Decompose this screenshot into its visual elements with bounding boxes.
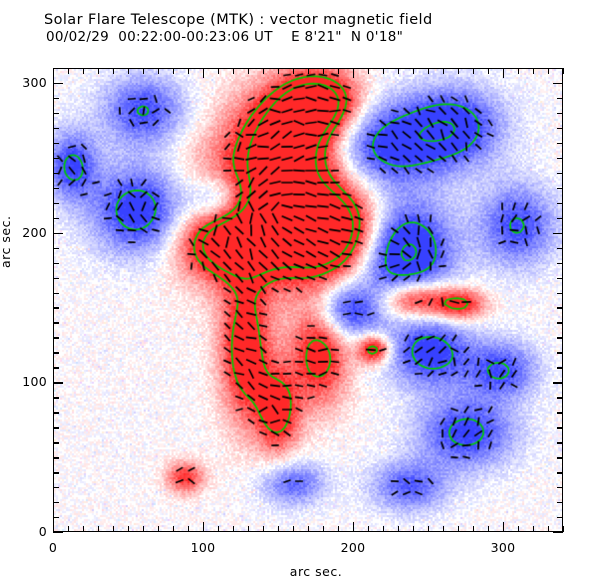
- axis-tick: [293, 526, 294, 532]
- axis-tick: [323, 526, 324, 532]
- axis-tick: [188, 526, 189, 532]
- axis-tick: [553, 233, 563, 234]
- y-tick-label: 0: [5, 524, 47, 539]
- axis-tick: [278, 68, 279, 74]
- axis-tick: [557, 263, 563, 264]
- x-axis-label: arc sec.: [0, 564, 612, 579]
- axis-tick: [53, 293, 59, 294]
- axis-tick: [53, 113, 59, 114]
- axis-tick: [128, 526, 129, 532]
- axis-tick: [53, 382, 63, 383]
- axis-tick: [173, 68, 174, 74]
- axis-tick: [557, 442, 563, 443]
- axis-tick: [143, 68, 144, 74]
- axis-tick: [53, 337, 59, 338]
- axis-tick: [98, 526, 99, 532]
- axis-tick: [143, 526, 144, 532]
- axis-tick: [473, 68, 474, 74]
- axis-tick: [53, 427, 59, 428]
- axis-tick: [518, 526, 519, 532]
- axis-tick: [53, 218, 59, 219]
- axis-tick: [383, 526, 384, 532]
- axis-tick: [548, 68, 549, 74]
- axis-tick: [443, 68, 444, 74]
- axis-tick: [518, 68, 519, 74]
- axis-tick: [563, 68, 564, 74]
- axis-tick: [553, 532, 563, 533]
- axis-tick: [53, 397, 59, 398]
- axis-tick: [53, 83, 63, 84]
- magnetogram-canvas: [54, 69, 562, 531]
- x-tick-label: 200: [330, 540, 376, 555]
- axis-tick: [473, 526, 474, 532]
- axis-tick: [353, 522, 354, 532]
- axis-tick: [53, 68, 59, 69]
- axis-tick: [557, 397, 563, 398]
- axis-tick: [218, 68, 219, 74]
- axis-tick: [557, 293, 563, 294]
- axis-tick: [557, 517, 563, 518]
- axis-tick: [557, 128, 563, 129]
- axis-tick: [398, 68, 399, 74]
- axis-tick: [553, 83, 563, 84]
- axis-tick: [53, 248, 59, 249]
- axis-tick: [308, 526, 309, 532]
- axis-tick: [488, 68, 489, 74]
- y-axis-label: arc sec.: [0, 216, 13, 268]
- axis-tick: [53, 502, 59, 503]
- axis-tick: [413, 526, 414, 532]
- axis-tick: [503, 68, 504, 78]
- figure-title: Solar Flare Telescope (MTK) : vector mag…: [44, 12, 584, 45]
- axis-tick: [383, 68, 384, 74]
- axis-tick: [338, 68, 339, 74]
- axis-tick: [233, 68, 234, 74]
- axis-tick: [53, 472, 59, 473]
- axis-tick: [458, 68, 459, 74]
- axis-tick: [323, 68, 324, 74]
- axis-tick: [293, 68, 294, 74]
- axis-tick: [263, 526, 264, 532]
- axis-tick: [98, 68, 99, 74]
- axis-tick: [248, 526, 249, 532]
- axis-tick: [353, 68, 354, 78]
- axis-tick: [533, 526, 534, 532]
- axis-tick: [53, 68, 54, 78]
- axis-tick: [398, 526, 399, 532]
- axis-tick: [53, 278, 59, 279]
- axis-tick: [278, 526, 279, 532]
- axis-tick: [68, 68, 69, 74]
- axis-tick: [557, 457, 563, 458]
- axis-tick: [557, 427, 563, 428]
- axis-tick: [557, 502, 563, 503]
- axis-tick: [553, 382, 563, 383]
- axis-tick: [533, 68, 534, 74]
- axis-tick: [203, 522, 204, 532]
- axis-tick: [263, 68, 264, 74]
- axis-tick: [53, 322, 59, 323]
- axis-tick: [308, 68, 309, 74]
- axis-tick: [557, 68, 563, 69]
- axis-tick: [53, 128, 59, 129]
- axis-tick: [53, 158, 59, 159]
- axis-tick: [53, 173, 59, 174]
- axis-tick: [368, 526, 369, 532]
- axis-tick: [188, 68, 189, 74]
- axis-tick: [128, 68, 129, 74]
- axis-tick: [113, 526, 114, 532]
- x-tick-label: 100: [180, 540, 226, 555]
- axis-tick: [53, 367, 59, 368]
- axis-tick: [53, 457, 59, 458]
- axis-tick: [68, 526, 69, 532]
- axis-tick: [83, 526, 84, 532]
- axis-tick: [458, 526, 459, 532]
- axis-tick: [413, 68, 414, 74]
- axis-tick: [557, 158, 563, 159]
- axis-tick: [443, 526, 444, 532]
- axis-tick: [557, 367, 563, 368]
- y-tick-label: 300: [5, 75, 47, 90]
- axis-tick: [557, 412, 563, 413]
- axis-tick: [53, 263, 59, 264]
- title-line-1: Solar Flare Telescope (MTK) : vector mag…: [44, 12, 584, 29]
- axis-tick: [53, 532, 63, 533]
- magnetogram-plot-area: [53, 68, 563, 532]
- axis-tick: [428, 68, 429, 74]
- axis-tick: [248, 68, 249, 74]
- axis-tick: [557, 322, 563, 323]
- axis-tick: [53, 233, 63, 234]
- axis-tick: [53, 442, 59, 443]
- axis-tick: [557, 472, 563, 473]
- axis-tick: [557, 337, 563, 338]
- axis-tick: [218, 526, 219, 532]
- axis-tick: [53, 188, 59, 189]
- x-axis-label-text: arc sec.: [290, 564, 342, 579]
- axis-tick: [557, 113, 563, 114]
- y-tick-label: 100: [5, 374, 47, 389]
- axis-tick: [428, 526, 429, 532]
- axis-tick: [53, 487, 59, 488]
- axis-tick: [557, 188, 563, 189]
- axis-tick: [563, 526, 564, 532]
- axis-tick: [368, 68, 369, 74]
- axis-tick: [338, 526, 339, 532]
- axis-tick: [158, 526, 159, 532]
- axis-tick: [557, 278, 563, 279]
- axis-tick: [557, 248, 563, 249]
- axis-tick: [233, 526, 234, 532]
- axis-tick: [557, 352, 563, 353]
- axis-tick: [53, 307, 59, 308]
- axis-tick: [53, 522, 54, 532]
- x-tick-label: 300: [480, 540, 526, 555]
- axis-tick: [557, 143, 563, 144]
- axis-tick: [53, 412, 59, 413]
- axis-tick: [557, 218, 563, 219]
- axis-tick: [557, 98, 563, 99]
- axis-tick: [548, 526, 549, 532]
- axis-tick: [557, 487, 563, 488]
- axis-tick: [53, 352, 59, 353]
- axis-tick: [113, 68, 114, 74]
- axis-tick: [557, 307, 563, 308]
- axis-tick: [53, 517, 59, 518]
- axis-tick: [503, 522, 504, 532]
- axis-tick: [53, 203, 59, 204]
- x-tick-label: 0: [30, 540, 76, 555]
- axis-tick: [203, 68, 204, 78]
- axis-tick: [83, 68, 84, 74]
- axis-tick: [488, 526, 489, 532]
- axis-tick: [53, 143, 59, 144]
- axis-tick: [53, 98, 59, 99]
- axis-tick: [557, 173, 563, 174]
- figure-root: Solar Flare Telescope (MTK) : vector mag…: [0, 0, 612, 585]
- axis-tick: [173, 526, 174, 532]
- title-line-2: 00/02/29 00:22:00-00:23:06 UT E 8'21" N …: [46, 29, 584, 45]
- axis-tick: [557, 203, 563, 204]
- axis-tick: [158, 68, 159, 74]
